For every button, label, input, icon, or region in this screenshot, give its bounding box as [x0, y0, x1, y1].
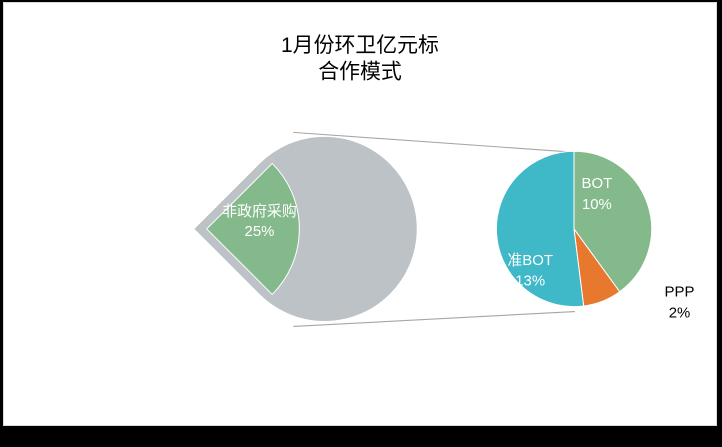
pie-of-pie-chart[interactable]: 1月份环卫亿元标 合作模式 政府采购 75% 非政府采购 25% BOT 10%: [4, 3, 716, 425]
label-government-procurement-name: 政府采购: [99, 203, 159, 220]
label-bot-name: BOT: [582, 175, 613, 192]
label-bot-value: 10%: [582, 196, 612, 213]
label-non-government-procurement-value: 25%: [245, 223, 275, 240]
label-non-government-procurement-name: 非政府采购: [222, 203, 297, 220]
chart-title-line2: 合作模式: [318, 61, 402, 84]
label-quasi-bot-name: 准BOT: [507, 252, 553, 269]
chart-title-line1: 1月份环卫亿元标: [281, 34, 439, 57]
label-ppp-name: PPP: [665, 284, 695, 301]
label-quasi-bot-value: 13%: [515, 273, 545, 290]
label-government-procurement-value: 75%: [114, 223, 144, 240]
chart-container[interactable]: 1月份环卫亿元标 合作模式 政府采购 75% 非政府采购 25% BOT 10%: [3, 2, 717, 426]
primary-pie[interactable]: 政府采购 75% 非政府采购 25%: [99, 136, 417, 321]
secondary-pie[interactable]: BOT 10% 准BOT 13% PPP 2%: [496, 151, 694, 321]
label-ppp-value: 2%: [669, 305, 691, 322]
